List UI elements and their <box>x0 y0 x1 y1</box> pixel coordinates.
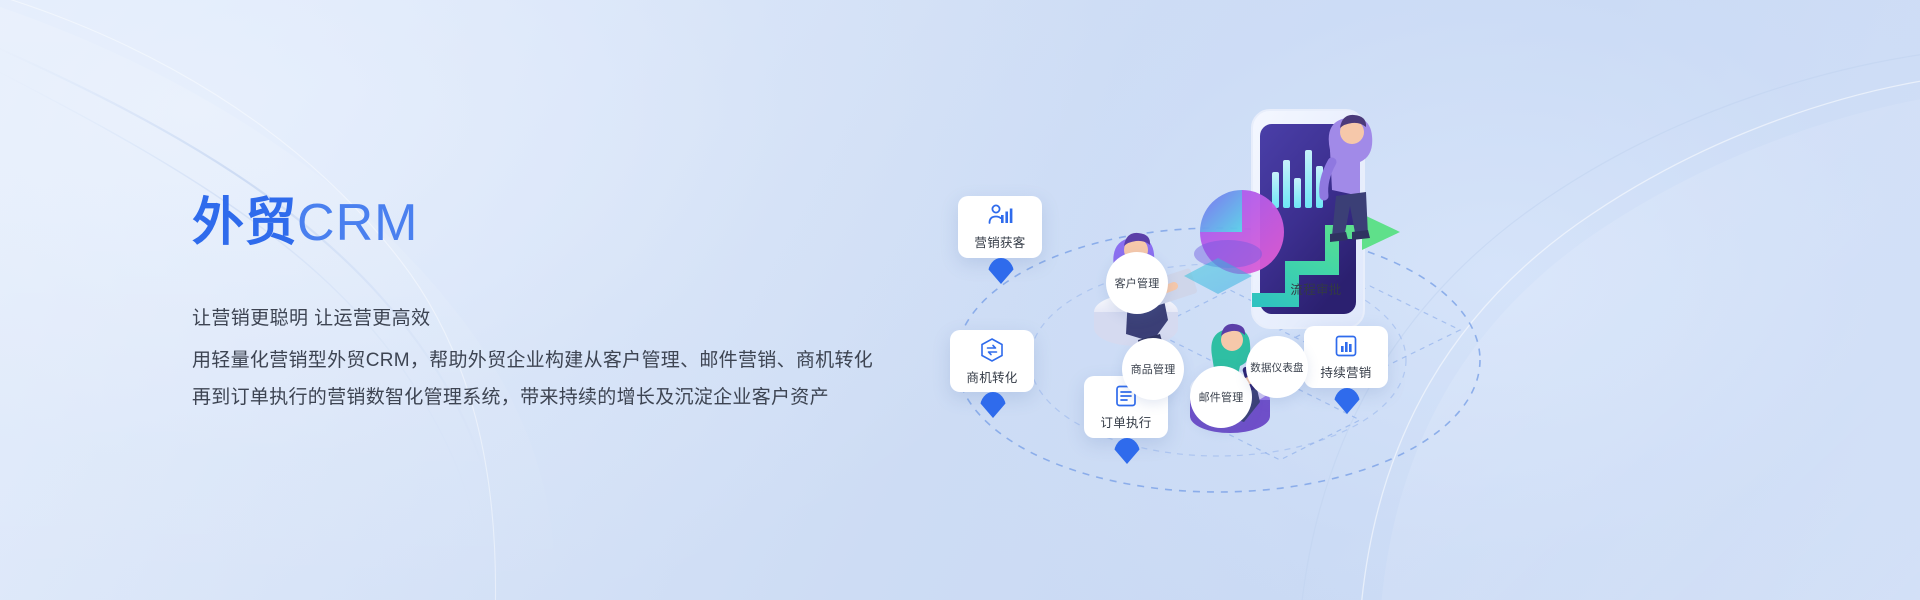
card-label: 商机转化 <box>966 367 1017 386</box>
illustration-scene <box>900 0 1620 600</box>
card-label: 持续营销 <box>1320 362 1371 381</box>
pill-label: 数据仪表盘 <box>1250 360 1304 375</box>
pill-email-management[interactable]: 邮件管理 <box>1190 366 1252 428</box>
pill-label: 客户管理 <box>1115 275 1160 291</box>
pill-data-dashboard[interactable]: 数据仪表盘 <box>1246 336 1308 398</box>
page-title-en: CRM <box>297 194 418 252</box>
page-title-cn: 外贸 <box>192 194 297 252</box>
hero-paragraph: 用轻量化营销型外贸CRM，帮助外贸企业构建从客户管理、邮件营销、商机转化 再到订… <box>192 342 912 416</box>
hero-copy: 外贸CRM 让营销更聪明 让运营更高效 用轻量化营销型外贸CRM，帮助外贸企业构… <box>192 196 912 416</box>
card-label: 营销获客 <box>974 232 1025 251</box>
card-label: 订单执行 <box>1100 412 1151 431</box>
hero-subtitle: 让营销更聪明 让运营更高效 <box>192 303 912 330</box>
pill-label: 邮件管理 <box>1199 389 1244 405</box>
crm-isometric-illustration: 营销获客 商机转化 订单执行 持续营销 流程审批 客户管理 商品管理 <box>900 0 1620 600</box>
pill-customer-management[interactable]: 客户管理 <box>1106 252 1168 314</box>
pill-label: 商品管理 <box>1131 361 1176 377</box>
bar-chart-icon <box>1334 334 1358 358</box>
hero-paragraph-line: 再到订单执行的营销数智化管理系统，带来持续的增长及沉淀企业客户资产 <box>192 379 912 416</box>
card-opportunity-conversion[interactable]: 商机转化 <box>950 330 1034 392</box>
card-marketing-acquisition[interactable]: 营销获客 <box>958 196 1042 258</box>
card-label: 流程审批 <box>1290 279 1341 298</box>
pill-product-management[interactable]: 商品管理 <box>1122 338 1184 400</box>
card-continuous-marketing[interactable]: 持续营销 <box>1304 326 1388 388</box>
user-chart-icon <box>987 204 1013 228</box>
opportunity-exchange-icon <box>979 337 1005 363</box>
card-approval-flow[interactable]: 流程审批 <box>1280 272 1352 304</box>
page-title: 外贸CRM <box>192 196 912 251</box>
hero-paragraph-line: 用轻量化营销型外贸CRM，帮助外贸企业构建从客户管理、邮件营销、商机转化 <box>192 342 912 379</box>
pie-chart-graphic <box>1194 190 1284 274</box>
